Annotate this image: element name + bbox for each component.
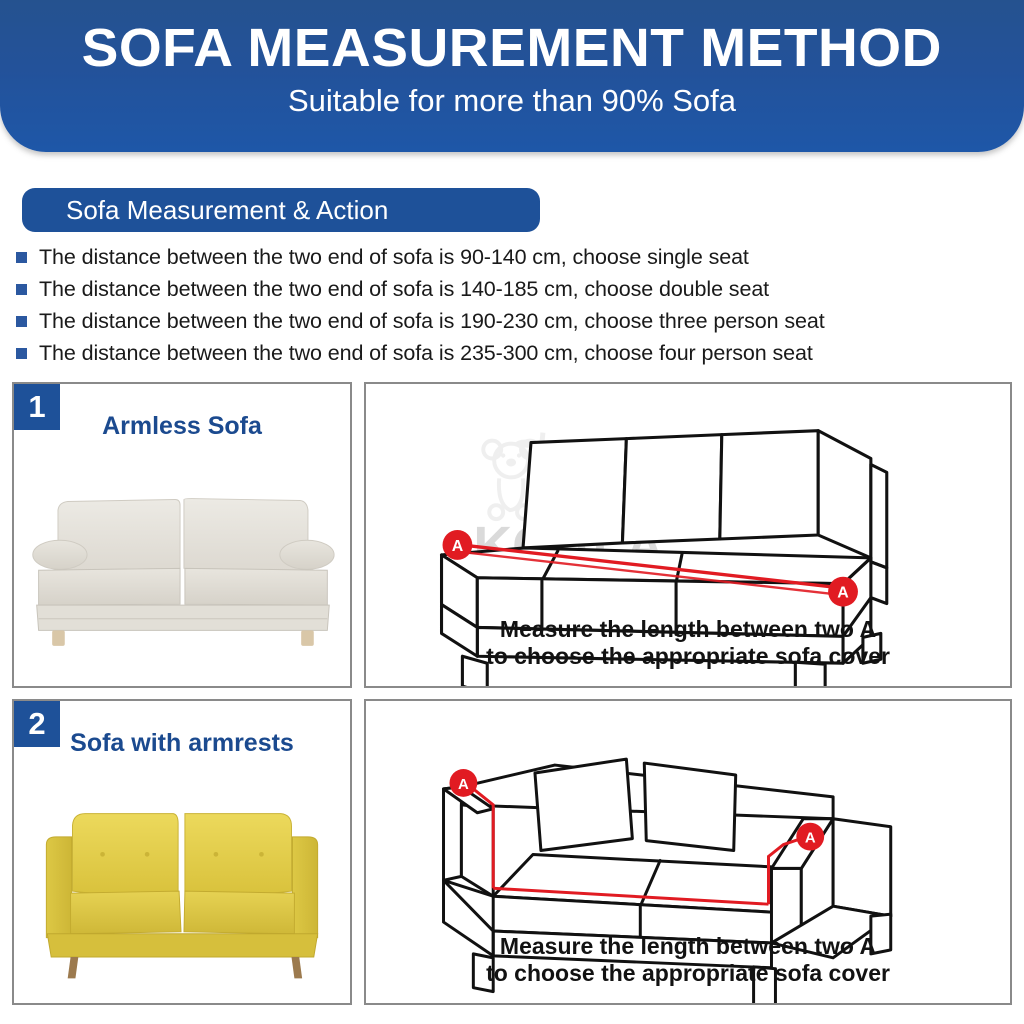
square-bullet-icon xyxy=(16,316,27,327)
marker-a-left: A xyxy=(443,530,473,560)
square-bullet-icon xyxy=(16,348,27,359)
panel-armless-sofa-photo: 1 Armless Sofa xyxy=(12,382,352,688)
list-item: The distance between the two end of sofa… xyxy=(16,338,1016,368)
header-banner: SOFA MEASUREMENT METHOD Suitable for mor… xyxy=(0,0,1024,152)
step-number-badge: 1 xyxy=(14,384,60,430)
measurement-guidelines-list: The distance between the two end of sofa… xyxy=(16,242,1016,370)
marker-a-left: A xyxy=(449,769,477,797)
diagram-caption: Measure the length between two A to choo… xyxy=(366,616,1010,670)
panel-title: Armless Sofa xyxy=(14,412,350,441)
panel-title: Sofa with armrests xyxy=(14,729,350,758)
diagram-caption-line1: Measure the length between two A xyxy=(366,933,1010,960)
sofa-type-grid: 1 Armless Sofa xyxy=(12,382,1012,1014)
panel-sofa-with-armrests-diagram: A A Measure the length between two A to … xyxy=(364,699,1012,1005)
list-item: The distance between the two end of sofa… xyxy=(16,274,1016,304)
svg-text:A: A xyxy=(805,831,816,847)
panel-armless-sofa-diagram: KOALA HOME LIFESTYLE xyxy=(364,382,1012,688)
list-item-label: The distance between the two end of sofa… xyxy=(39,277,769,302)
diagram-caption-line2: to choose the appropriate sofa cover xyxy=(366,960,1010,987)
armless-sofa-image xyxy=(14,454,350,672)
page-subtitle: Suitable for more than 90% Sofa xyxy=(288,83,736,119)
square-bullet-icon xyxy=(16,252,27,263)
svg-text:A: A xyxy=(837,585,849,602)
marker-a-right: A xyxy=(828,577,858,607)
yellow-sofa-image xyxy=(14,771,350,989)
list-item: The distance between the two end of sofa… xyxy=(16,242,1016,272)
section-pill: Sofa Measurement & Action xyxy=(22,188,540,232)
svg-text:A: A xyxy=(458,777,469,793)
diagram-caption: Measure the length between two A to choo… xyxy=(366,933,1010,987)
list-item-label: The distance between the two end of sofa… xyxy=(39,341,813,366)
page-title: SOFA MEASUREMENT METHOD xyxy=(82,20,942,77)
diagram-caption-line2: to choose the appropriate sofa cover xyxy=(366,643,1010,670)
panel-sofa-with-armrests-photo: 2 Sofa with armrests xyxy=(12,699,352,1005)
svg-text:A: A xyxy=(452,538,464,555)
square-bullet-icon xyxy=(16,284,27,295)
list-item-label: The distance between the two end of sofa… xyxy=(39,245,749,270)
diagram-caption-line1: Measure the length between two A xyxy=(366,616,1010,643)
list-item: The distance between the two end of sofa… xyxy=(16,306,1016,336)
step-number-badge: 2 xyxy=(14,701,60,747)
marker-a-right: A xyxy=(796,823,824,851)
section-pill-label: Sofa Measurement & Action xyxy=(66,195,388,226)
list-item-label: The distance between the two end of sofa… xyxy=(39,309,825,334)
